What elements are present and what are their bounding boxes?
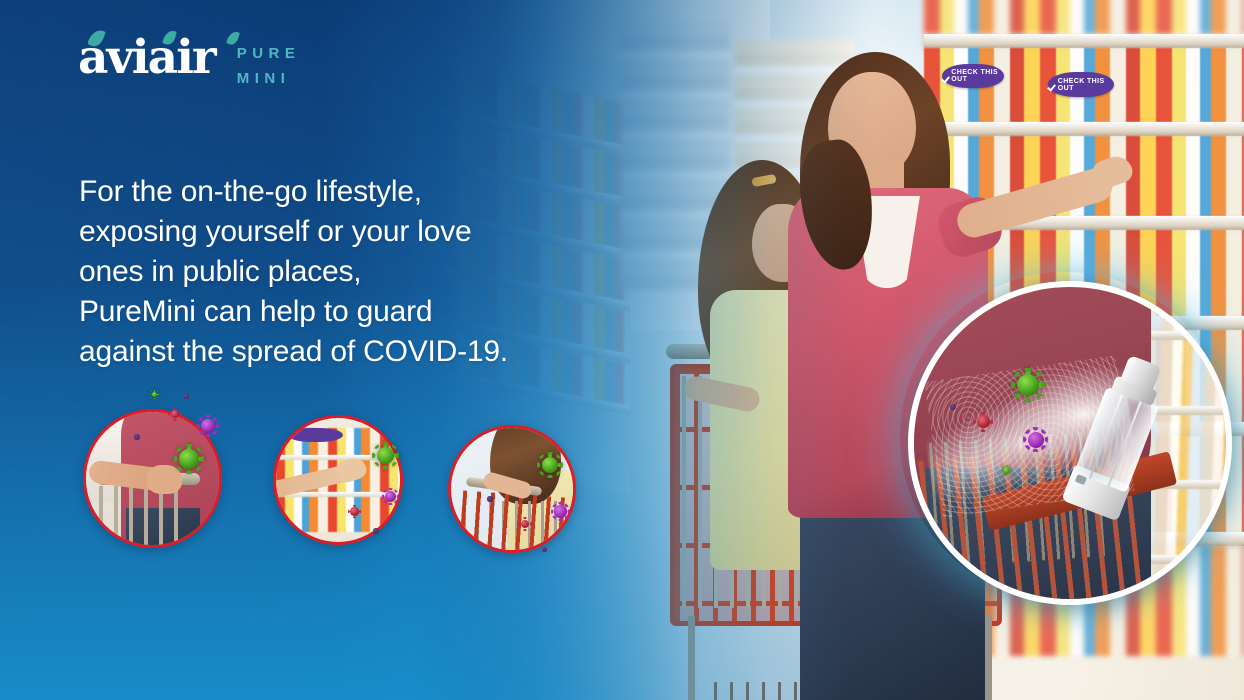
virus-particle-purple [382,488,399,505]
virus-particle-green [372,442,399,469]
virus-particle-purple [551,502,570,521]
product-line-name: PURE MINI [237,34,301,92]
headline-line-2: exposing yourself or your love [79,212,549,252]
virus-particle-green-small [150,390,159,399]
virus-particle-red [518,517,532,531]
virus-particle-green [174,444,204,474]
product-line-pure: PURE [237,42,301,67]
virus-particle-red [348,505,361,518]
aviair-wordmark: aviair [78,34,215,81]
promo-banner: CHECK THIS OUT CHECK THIS OUT [0,0,1244,700]
headline-line-5: against the spread of COVID-19. [79,332,549,372]
virus-particle-small [486,495,494,503]
brand-logo: aviair PURE MINI [78,34,300,92]
virus-particle-green [1011,368,1045,402]
headline-line-1: For the on-the-go lifestyle, [79,172,549,212]
headline-line-3: ones in public places, [79,252,549,292]
hero-circle-puremini-spray[interactable] [908,281,1232,605]
thumbnail-child-on-cart[interactable] [448,425,576,553]
virus-particle-green [537,452,563,478]
virus-particle-purple [197,415,219,437]
product-line-mini: MINI [237,67,301,92]
virus-particle-red [168,407,182,421]
virus-particle-small [541,546,548,553]
headline-line-4: PureMini can help to guard [79,292,549,332]
virus-particle-small [183,393,190,400]
virus-particle-small [133,433,141,441]
headline-copy: For the on-the-go lifestyle, exposing yo… [79,172,549,371]
thumbnail-hand-reaching-shelf[interactable] [273,415,403,545]
virus-particle-small [372,527,380,535]
virus-particle-red [973,412,993,432]
